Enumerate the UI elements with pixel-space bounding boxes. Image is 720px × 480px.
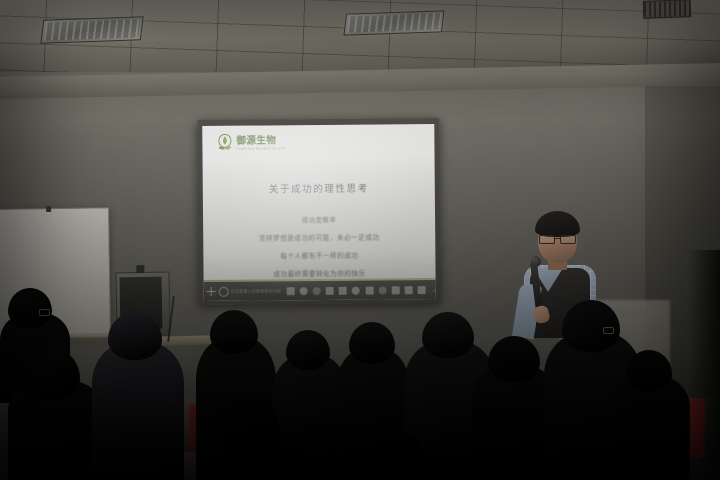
fire-extinguisher — [690, 398, 705, 458]
brand-name-cn: 御源生物 — [236, 136, 285, 146]
taskbar-search[interactable]: 在这里输入你要搜索的内容 — [219, 286, 281, 297]
brand-name-en: YUANYUAN BIOLOGY CO.,LTD — [236, 147, 285, 150]
audience-member-9-head — [488, 336, 540, 382]
taskbar-clock[interactable]: 10:42 2019/3/9 — [433, 286, 436, 293]
audience-member-10-head — [562, 300, 620, 352]
task-view-icon[interactable] — [287, 287, 295, 295]
slide-line-4: 成功最终需要转化为你的快乐 — [213, 267, 425, 279]
whiteboard-clip — [46, 206, 51, 212]
slide-body: 成功是概率 坚持梦想是成功的可能，未必一定成功 每个人都有不一样的成功 成功最终… — [213, 214, 426, 279]
windows-taskbar[interactable]: 在这里输入你要搜索的内容 — [204, 280, 436, 301]
app-icon[interactable] — [379, 286, 387, 294]
audience-member-3-head — [108, 312, 162, 360]
leaf-drop-logo-icon — [216, 134, 233, 153]
audience-member-2 — [8, 348, 104, 480]
slide-title: 关于成功的理性思考 — [213, 180, 425, 196]
audience-member-12-head — [354, 430, 424, 474]
volume-icon[interactable] — [418, 286, 426, 294]
slide-logo-text: 御源生物 YUANYUAN BIOLOGY CO.,LTD — [236, 136, 285, 150]
audience-member-8-head — [422, 312, 474, 358]
audience-member-3 — [92, 312, 184, 480]
conference-room-photo: 御源生物 YUANYUAN BIOLOGY CO.,LTD 关于成功的理性思考 … — [0, 0, 720, 480]
taskbar-tray-icons[interactable] — [366, 286, 426, 295]
audience-member-12 — [330, 430, 450, 480]
powerpoint-icon[interactable] — [326, 286, 334, 294]
camera-icon — [136, 265, 144, 273]
ime-icon[interactable] — [392, 286, 400, 294]
audience-member-6-head — [216, 398, 280, 454]
audience-member-10-glasses-icon — [603, 327, 614, 334]
chrome-icon[interactable] — [300, 287, 308, 295]
presenter-hair — [535, 211, 580, 237]
audience-member-3-body — [92, 342, 184, 480]
powerpoint-slide: 御源生物 YUANYUAN BIOLOGY CO.,LTD 关于成功的理性思考 … — [202, 124, 435, 282]
media-icon[interactable] — [352, 286, 360, 294]
cortana-icon[interactable] — [219, 286, 229, 296]
audience-member-6 — [196, 398, 306, 480]
audience-member-5-head — [286, 330, 330, 370]
taskbar-pinned-icons[interactable] — [287, 286, 360, 295]
audience-member-4-head — [210, 310, 258, 354]
audience-member-11-head — [626, 350, 672, 392]
glasses-icon — [539, 235, 576, 242]
audience-member-1-glasses-icon — [39, 309, 50, 316]
search-placeholder: 在这里输入你要搜索的内容 — [231, 288, 281, 294]
slide-line-3: 每个人都有不一样的成功 — [213, 249, 425, 261]
audience-member-11 — [612, 350, 690, 480]
clock-date: 2019/3/9 — [433, 289, 436, 293]
start-button-icon[interactable] — [207, 287, 216, 296]
file-explorer-icon[interactable] — [366, 286, 374, 294]
slide-line-1: 成功是概率 — [213, 214, 425, 225]
audience-member-7-head — [349, 322, 395, 364]
slide-logo: 御源生物 YUANYUAN BIOLOGY CO.,LTD — [216, 132, 424, 153]
audience-member-2-head — [22, 348, 80, 400]
projection-screen-frame: 御源生物 YUANYUAN BIOLOGY CO.,LTD 关于成功的理性思考 … — [197, 118, 441, 305]
slide-line-2: 坚持梦想是成功的可能，未必一定成功 — [213, 231, 425, 243]
folder-icon[interactable] — [339, 286, 347, 294]
wechat-icon[interactable] — [313, 286, 321, 294]
network-icon[interactable] — [405, 286, 413, 294]
projection-screen[interactable]: 御源生物 YUANYUAN BIOLOGY CO.,LTD 关于成功的理性思考 … — [202, 124, 436, 301]
